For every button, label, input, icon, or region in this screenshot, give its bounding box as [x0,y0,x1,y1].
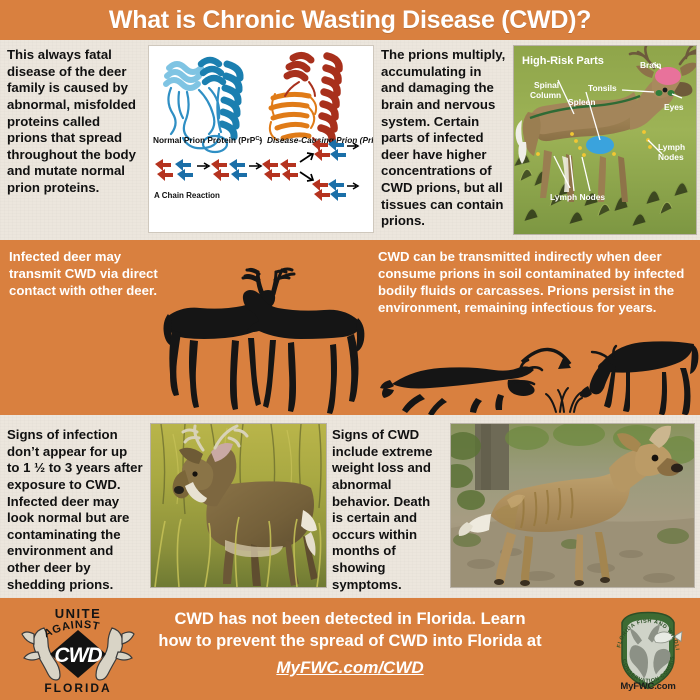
page-title: What is Chronic Wasting Disease (CWD)? [109,6,591,35]
muzzle [174,486,184,494]
healthy-buck-photo [150,423,327,588]
healthy-buck-svg [151,424,326,587]
unite-logo-florida: FLORIDA [44,681,111,695]
incubation-text: Signs of infection don’t appear for up t… [7,427,143,593]
label-spinal-column-2: Column [530,90,561,100]
chain-reaction-label: A Chain Reaction [154,191,220,200]
footer-line-1: CWD has not been detected in Florida. Le… [174,610,525,628]
header-banner: What is Chronic Wasting Disease (CWD)? [0,0,700,40]
prion-diagram-card: Normal Prion Protein (PrPC) · Disease-Ca… [148,45,374,233]
row-transmission: Infected deer may transmit CWD via direc… [0,240,700,415]
unite-against-cwd-logo: CWD UNITE AGAINST FLORIDA [22,604,134,696]
intro-text: This always fatal disease of the deer fa… [7,47,139,197]
eye [192,471,197,476]
emaciated-deer-svg [451,424,694,587]
emaciated-deer-photo [450,423,695,588]
footer-message: CWD has not been detected in Florida. Le… [140,608,560,679]
label-eyes: Eyes [664,102,684,112]
deer-anatomy-svg: Brain Tonsils Eyes Spinal Column Spleen … [514,46,696,234]
prion-diagram-svg: Normal Prion Protein (PrPC) · Disease-Ca… [149,46,373,232]
label-tonsils: Tonsils [588,83,617,93]
label-lymph-nodes-r2: Nodes [658,152,684,162]
carcass-and-grazing-deer [380,318,698,415]
eye [652,455,659,462]
myfwc-cwd-link[interactable]: MyFWC.com/CWD [276,656,423,679]
muzzle [671,464,683,473]
two-deer-silhouette [160,268,365,415]
label-spleen: Spleen [568,97,595,107]
direct-contact-text: Infected deer may transmit CWD via direc… [9,249,169,300]
footer-banner: CWD UNITE AGAINST FLORIDA CWD has not be… [0,598,700,700]
label-brain: Brain [640,60,661,70]
myfwc-caption: MyFWC.com [602,681,694,692]
infographic-root: What is Chronic Wasting Disease (CWD)? T… [0,0,700,700]
high-risk-parts-caption: High-Risk Parts [522,55,604,67]
eye-highlight [656,90,663,96]
row-signs: Signs of infection don’t appear for up t… [0,415,700,595]
high-risk-parts-photo: Brain Tonsils Eyes Spinal Column Spleen … [513,45,697,235]
label-lymph-nodes-b: Lymph Nodes [550,192,605,202]
unite-logo-cwd: CWD [54,644,102,667]
prion-label-separator: · [259,135,262,145]
tonsil-highlight [663,88,668,93]
unite-logo-unite: UNITE [55,606,102,621]
label-spinal-column-1: Spinal [534,80,559,90]
footer-line-2: how to prevent the spread of CWD into Fl… [158,632,541,650]
prion-label-normal: Normal Prion Protein (PrPC) [153,135,263,145]
label-lymph-nodes-r1: Lymph [658,142,685,152]
signs-of-cwd-text: Signs of CWD include extreme weight loss… [332,427,440,593]
row-transmission-biology: This always fatal disease of the deer fa… [0,40,700,240]
prion-multiply-text: The prions multiply, accumulating in and… [381,47,507,230]
indirect-transmission-text: CWD can be transmitted indirectly when d… [378,249,690,317]
